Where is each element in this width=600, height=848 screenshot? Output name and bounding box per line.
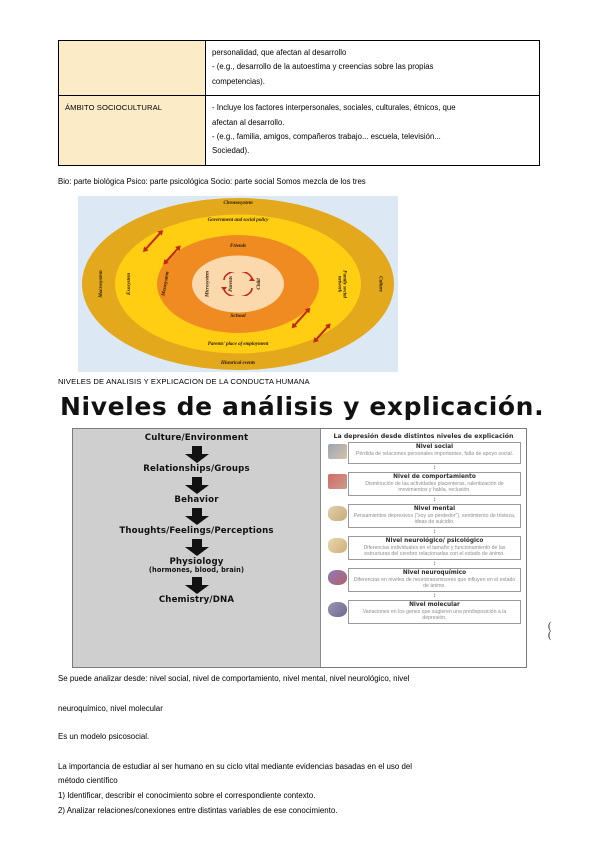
level-item: Nivel molecular Variaciones en los genes… [348,600,521,624]
row-label-text: ÁMBITO SOCIOCULTURAL [65,103,162,112]
brain-icon [328,506,347,521]
niveles-caption-small: NIVELES DE ANALISIS Y EXPLICACION DE LA … [58,377,310,386]
flow-step-sublabel: (hormones, blood, brain) [149,567,244,575]
level-name: Nivel de comportamiento [351,474,518,481]
bio-psico-socio-caption: Bio: parte biológica Psico: parte psicol… [58,176,558,188]
flow-step-label: Culture/Environment [145,434,248,444]
paragraph-line: método científico [58,774,542,788]
level-item: Nivel neurológico/ psicológico Diferenci… [348,536,521,560]
depression-levels-panel: La depresión desde distintos niveles de … [321,429,526,667]
level-name: Nivel mental [351,506,518,513]
down-arrow-icon [184,577,210,594]
level-separator-icon: ↕ [348,593,521,599]
down-arrow-icon [184,477,210,494]
niveles-heading: Niveles de análisis y explicación. [60,392,580,421]
down-arrow-icon [184,539,210,556]
level-name: Nivel social [351,444,518,451]
group-photo-icon [328,474,347,489]
cell-line: personalidad, que afectan al desarrollo [212,46,533,59]
label-school: School [230,314,245,320]
label-microsystem: Microsystem [205,271,210,297]
table-cell-body: personalidad, que afectan al desarrollo … [206,41,540,96]
paragraph-line: neuroquímico, nivel molecular [58,702,542,716]
level-item: Nivel mental Pensamientos depresivos ("s… [348,504,521,528]
gene-molecule-icon [328,602,347,617]
paragraph-line: Se puede analizar desde: nivel social, n… [58,672,542,686]
cell-line: competencias). [212,75,533,88]
cell-line: Sociedad). [212,144,533,157]
label-exosystem: Exosystem [127,273,132,295]
level-desc: Pensamientos depresivos ("soy un perdedo… [351,513,518,525]
level-separator-icon: ↕ [348,561,521,567]
bronfenbrenner-diagram: Chronosystem Government and social polic… [78,196,398,372]
list-item: 2) Analizar relaciones/conexiones entre … [58,804,542,818]
table-cell-body: - Incluye los factores interpersonales, … [206,96,540,166]
flow-step-label: Behavior [174,496,218,506]
parent-child-cycle-arrows [218,272,258,296]
paragraph-line: La importancia de estudiar al ser humano… [58,760,542,774]
document-page: personalidad, que afectan al desarrollo … [0,0,600,848]
level-desc: Diferencias en niveles de neurotransmiso… [351,577,518,589]
level-name: Nivel neuroquímico [351,570,518,577]
cell-line: - Incluye los factores interpersonales, … [212,101,533,114]
level-separator-icon: ↕ [348,465,521,471]
label-parents-workplace: Parents' place of employment [198,342,278,347]
level-item: Nivel social Pérdida de relaciones perso… [348,442,521,464]
flow-step-label: Chemistry/DNA [159,596,234,606]
paragraph-line: Es un modelo psicosocial. [58,730,542,744]
brain-icon [328,538,347,553]
label-culture: Culture [377,276,382,292]
down-arrow-icon [184,446,210,463]
table-cell-label [59,41,206,96]
label-government: Government and social policy [193,218,283,223]
label-macrosystem: Macrosystem [99,270,104,297]
cell-line: - (e.g., desarrollo de la autoestima y c… [212,60,533,73]
people-photo-icon [328,444,347,459]
table-row: personalidad, que afectan al desarrollo … [59,41,540,96]
cell-line: afectan al desarrollo. [212,116,533,129]
level-separator-icon: ↕ [348,529,521,535]
down-arrow-icon [184,508,210,525]
level-desc: Disminución de las actividades placenter… [351,481,518,493]
level-item: Nivel de comportamiento Disminución de l… [348,472,521,496]
level-separator-icon: ↕ [348,497,521,503]
flow-step-label: Thoughts/Feelings/Perceptions [119,527,273,537]
table-row: ÁMBITO SOCIOCULTURAL - Incluye los facto… [59,96,540,166]
label-family-social-network: Family social network [336,263,347,305]
flowchart-panel: Culture/Environment Relationships/Groups… [73,429,321,667]
level-name: Nivel neurológico/ psicológico [351,538,518,545]
label-friends: Friends [230,244,246,249]
list-item: 1) Identificar, describir el conocimient… [58,789,542,803]
table-cell-label: ÁMBITO SOCIOCULTURAL [59,96,206,166]
depression-levels-title: La depresión desde distintos niveles de … [326,433,521,440]
molecule-icon [328,570,347,585]
margin-scribble-mark: (( [548,622,551,640]
label-historical-events: Historical events [203,361,273,366]
level-desc: Variaciones en los genes que sugieren un… [351,609,518,621]
level-desc: Pérdida de relaciones personales importa… [351,451,518,457]
levels-figure: Culture/Environment Relationships/Groups… [72,428,527,668]
cell-line: - (e.g., familia, amigos, compañeros tra… [212,130,533,143]
flow-step-label: Relationships/Groups [143,465,249,475]
level-item: Nivel neuroquímico Diferencias en nivele… [348,568,521,592]
level-name: Nivel molecular [351,602,518,609]
level-desc: Diferencias individuales en el tamaño y … [351,545,518,557]
ambitos-table: personalidad, que afectan al desarrollo … [58,40,540,166]
label-chronosystem: Chronosystem [223,201,252,206]
